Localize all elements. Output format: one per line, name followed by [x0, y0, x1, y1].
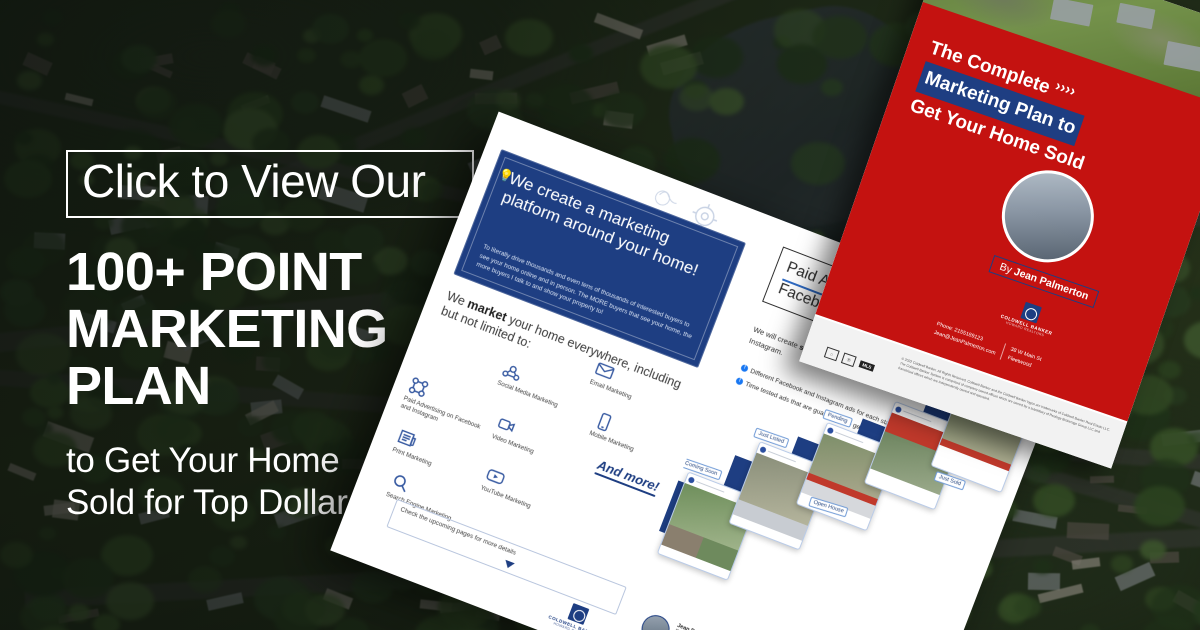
realtor-icon: Ⓡ	[841, 353, 857, 368]
headline-line-1: 100+ POINT	[66, 242, 362, 302]
channel-label: Social Media Marketing	[496, 379, 579, 418]
compliance-marks: ⌂ Ⓡ MLS	[824, 347, 876, 374]
click-to-view-label: Click to View Our	[82, 158, 458, 206]
facebook-bullet-icon: f	[740, 364, 749, 373]
and-more-label: And more!	[594, 457, 661, 497]
chevrons-icon: › › › ›	[1053, 77, 1076, 99]
channel-label: YouTube Marketing	[479, 484, 562, 523]
contact-divider	[1000, 343, 1007, 360]
facebook-bullet-icon: f	[735, 377, 744, 386]
agent-avatar	[637, 611, 673, 630]
mls-icon: MLS	[859, 360, 876, 372]
click-to-view-box[interactable]: Click to View Our	[66, 150, 474, 218]
channel-video-marketing: Video Marketing	[490, 412, 581, 471]
agent-footer: Jean Palmerton Realtor Coldwell Banker H…	[633, 611, 767, 630]
down-triangle-icon	[503, 560, 515, 570]
channel-youtube-marketing: YouTube Marketing	[479, 464, 570, 523]
equal-housing-icon: ⌂	[824, 347, 840, 362]
promo-banner[interactable]: Click to View Our 100+ POINT MARKETING P…	[0, 0, 1200, 630]
channel-label: Video Marketing	[490, 433, 573, 472]
agent-name: Jean Palmerton	[676, 623, 767, 630]
